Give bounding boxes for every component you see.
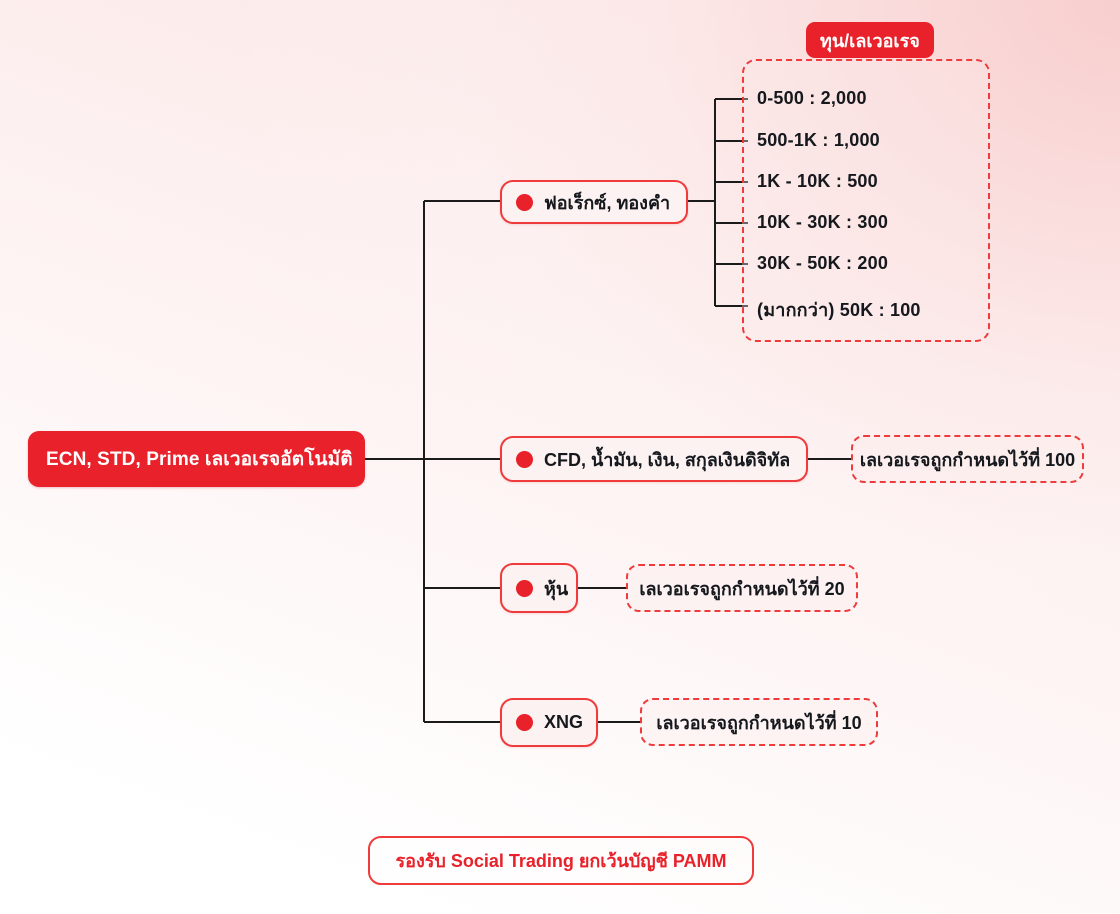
branch-node-label: CFD, น้ำมัน, เงิน, สกุลเงินดิจิทัล bbox=[544, 445, 790, 474]
bullet-icon bbox=[516, 714, 533, 731]
branch-node-label: ฟอเร็กซ์, ทองคำ bbox=[544, 188, 670, 217]
leverage-tier-row: 1K - 10K : 500 bbox=[757, 171, 878, 192]
leverage-tier-row: 500-1K : 1,000 bbox=[757, 130, 880, 151]
bullet-icon bbox=[516, 194, 533, 211]
diagram-canvas: ECN, STD, Prime เลเวอเรจอัตโนมัติ ทุน/เล… bbox=[0, 0, 1120, 914]
value-callout-label: เลเวอเรจถูกกำหนดไว้ที่ 100 bbox=[860, 445, 1075, 474]
leverage-table-title: ทุน/เลเวอเรจ bbox=[806, 22, 934, 58]
bullet-icon bbox=[516, 451, 533, 468]
value-callout-label: เลเวอเรจถูกกำหนดไว้ที่ 10 bbox=[656, 708, 861, 737]
branch-node-forex-gold[interactable]: ฟอเร็กซ์, ทองคำ bbox=[500, 180, 688, 224]
branch-node-xng[interactable]: XNG bbox=[500, 698, 598, 747]
root-node-label: ECN, STD, Prime เลเวอเรจอัตโนมัติ bbox=[46, 444, 353, 474]
leverage-tier-row: 30K - 50K : 200 bbox=[757, 253, 888, 274]
branch-node-label: หุ้น bbox=[544, 574, 568, 603]
branch-node-label: XNG bbox=[544, 712, 583, 733]
footer-note-social-trading: รองรับ Social Trading ยกเว้นบัญชี PAMM bbox=[368, 836, 754, 885]
leverage-tier-row: 0-500 : 2,000 bbox=[757, 88, 867, 109]
leverage-tier-row: 10K - 30K : 300 bbox=[757, 212, 888, 233]
leverage-table-title-label: ทุน/เลเวอเรจ bbox=[820, 26, 920, 55]
value-callout-label: เลเวอเรจถูกกำหนดไว้ที่ 20 bbox=[639, 574, 844, 603]
value-callout-cfd: เลเวอเรจถูกกำหนดไว้ที่ 100 bbox=[851, 435, 1084, 483]
branch-node-cfd-oil-silver-crypto[interactable]: CFD, น้ำมัน, เงิน, สกุลเงินดิจิทัล bbox=[500, 436, 808, 482]
footer-note-label: รองรับ Social Trading ยกเว้นบัญชี PAMM bbox=[395, 846, 726, 875]
branch-node-stocks[interactable]: หุ้น bbox=[500, 563, 578, 613]
bullet-icon bbox=[516, 580, 533, 597]
value-callout-xng: เลเวอเรจถูกกำหนดไว้ที่ 10 bbox=[640, 698, 878, 746]
leverage-tier-row: (มากกว่า) 50K : 100 bbox=[757, 295, 921, 324]
root-node-ecn-std-prime[interactable]: ECN, STD, Prime เลเวอเรจอัตโนมัติ bbox=[28, 431, 365, 487]
value-callout-stocks: เลเวอเรจถูกกำหนดไว้ที่ 20 bbox=[626, 564, 858, 612]
